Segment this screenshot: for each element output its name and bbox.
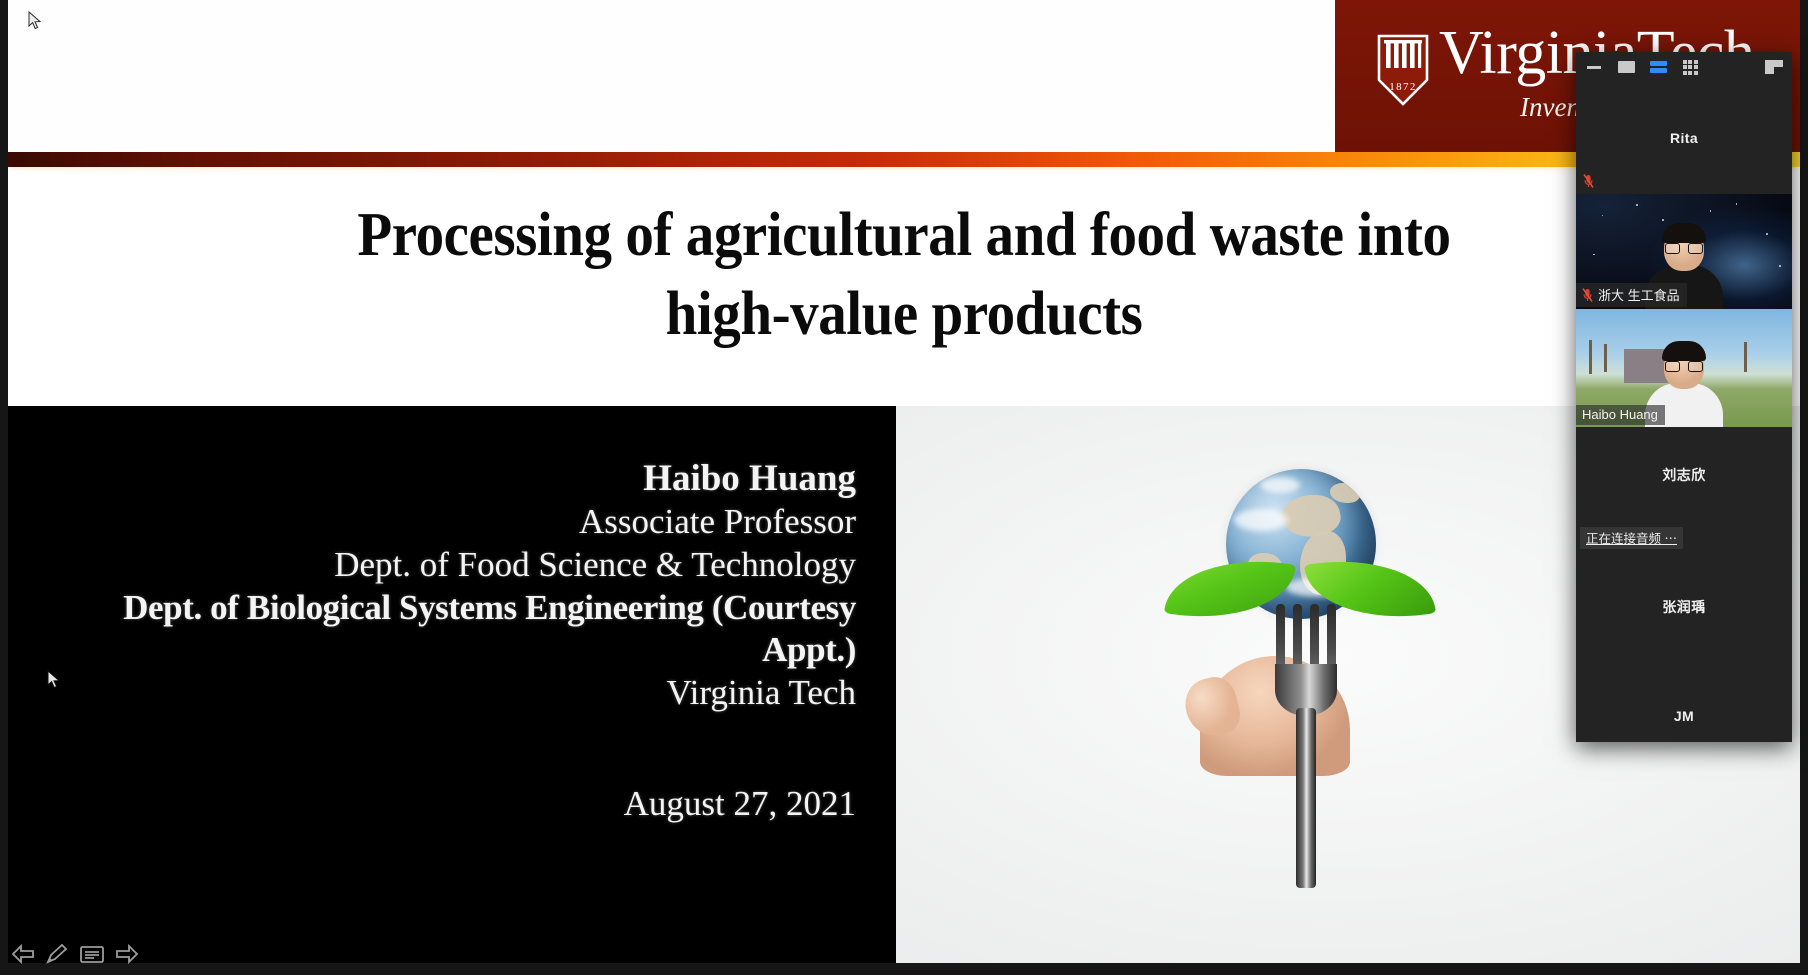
mic-off-icon [1582,288,1593,302]
participant-tile-zhangrunyu[interactable]: 张润瑀 [1576,553,1792,661]
globe-fork-illustration [1188,406,1418,963]
participant-name: 张润瑀 [1662,597,1705,617]
participant-tile-liuzhixin[interactable]: 刘志欣 [1576,427,1792,523]
slide-title-line-2: high-value products [80,275,1729,354]
slide-body: Haibo Huang Associate Professor Dept. of… [8,406,1800,963]
byline-department-2: Dept. of Biological Systems Engineering … [36,587,856,672]
split-view-button[interactable] [1648,57,1668,77]
zoom-panel-toolbar[interactable] [1576,52,1792,82]
mouse-cursor-top [28,11,42,31]
vt-shield-icon: 1872 [1377,34,1429,106]
single-window-icon [1618,61,1635,73]
participant-name: Haibo Huang [1582,407,1658,422]
grid-icon [1683,60,1698,75]
status-badge: 正在连接音频 ⋯ [1580,527,1683,549]
participant-name: 刘志欣 [1662,465,1705,485]
split-view-icon [1650,61,1667,73]
slide-byline-panel: Haibo Huang Associate Professor Dept. of… [8,406,896,963]
shared-slide: 1872 VirginiaTech Invent the Future Proc… [8,0,1800,963]
participant-name: JM [1674,708,1694,724]
participant-name: Rita [1670,130,1698,146]
participant-tile-zhejiang[interactable]: 浙大 生工食品 [1576,194,1792,309]
slide-title-line-1: Processing of agricultural and food wast… [80,196,1729,275]
byline-department-1: Dept. of Food Science & Technology [36,544,856,587]
audio-status-row: 正在连接音频 ⋯ [1576,523,1792,553]
byline-university: Virginia Tech [36,672,856,715]
slide-header: 1872 VirginiaTech Invent the Future [8,0,1800,160]
picture-in-picture-button[interactable] [1764,57,1784,77]
participant-label: 浙大 生工食品 [1576,283,1687,307]
previous-slide-icon[interactable] [10,942,36,966]
participant-label: Haibo Huang [1576,405,1665,425]
byline-date: August 27, 2021 [36,783,856,826]
presenter-toolbar[interactable] [10,937,140,971]
byline: Haibo Huang Associate Professor Dept. of… [36,456,856,825]
mic-off-icon [1583,174,1594,188]
shield-year: 1872 [1389,81,1417,93]
participant-name: 浙大 生工食品 [1598,285,1680,304]
participant-tile-haibo-huang[interactable]: Haibo Huang [1576,309,1792,427]
mouse-cursor-slide [47,670,61,690]
picture-in-picture-icon [1765,60,1783,74]
byline-role: Associate Professor [36,501,856,544]
fork-icon [1273,604,1339,904]
minimize-icon [1587,66,1601,69]
zoom-video-panel[interactable]: Rita [1576,52,1792,742]
participant-tile-rita[interactable]: Rita [1576,82,1792,194]
next-slide-icon[interactable] [114,942,140,966]
slide-menu-icon[interactable] [78,942,106,966]
screen: 1872 VirginiaTech Invent the Future Proc… [0,0,1808,975]
slide-title: Processing of agricultural and food wast… [80,196,1729,355]
pen-icon[interactable] [44,942,70,966]
minimize-button[interactable] [1584,57,1604,77]
single-view-button[interactable] [1616,57,1636,77]
byline-name: Haibo Huang [36,456,856,501]
slide-divider-rule [8,152,1800,167]
participant-tile-jm[interactable]: JM [1576,661,1792,742]
gallery-view-button[interactable] [1680,57,1700,77]
